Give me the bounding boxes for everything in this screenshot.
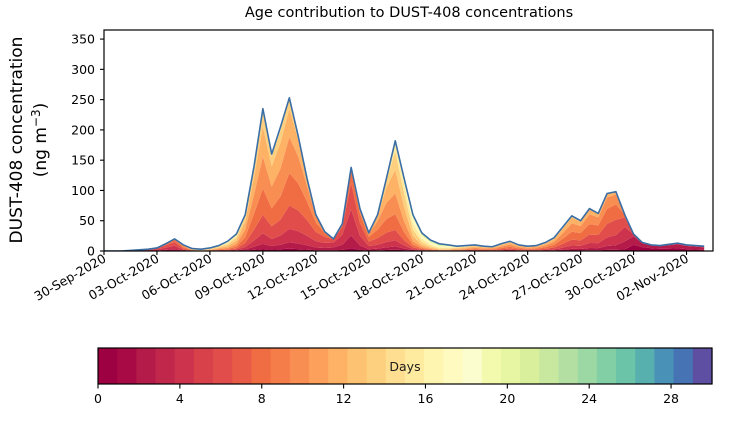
colorbar-segment — [156, 348, 176, 384]
y-tick-label: 200 — [71, 122, 95, 137]
y-axis-label-line1: DUST-408 concentration — [7, 37, 27, 244]
colorbar-tick-label: 8 — [258, 391, 266, 406]
colorbar-segment — [252, 348, 272, 384]
colorbar-tick-label: 16 — [418, 391, 434, 406]
colorbar-segment — [232, 348, 252, 384]
colorbar-tick-label: 4 — [176, 391, 184, 406]
colorbar-segment — [117, 348, 137, 384]
colorbar-segment — [347, 348, 367, 384]
y-axis-label-unit: (ng m — [31, 127, 51, 177]
y-tick-label: 50 — [79, 213, 95, 228]
y-tick-label: 300 — [71, 62, 95, 77]
colorbar-segment — [463, 348, 483, 384]
colorbar-tick-label: 28 — [663, 391, 679, 406]
colorbar-segment — [175, 348, 195, 384]
colorbar-segment — [597, 348, 617, 384]
colorbar-segment — [674, 348, 694, 384]
y-axis-label-exponent: −3 — [29, 109, 43, 127]
colorbar-segment — [559, 348, 579, 384]
y-tick-label: 350 — [71, 32, 95, 47]
colorbar-segment — [693, 348, 713, 384]
colorbar-tick-label: 12 — [336, 391, 352, 406]
colorbar-segment — [578, 348, 598, 384]
colorbar-segment — [443, 348, 463, 384]
colorbar-segment — [213, 348, 233, 384]
colorbar-segment — [482, 348, 502, 384]
colorbar-segment — [271, 348, 291, 384]
colorbar-segment — [309, 348, 329, 384]
y-tick-label: 100 — [71, 183, 95, 198]
colorbar-segment — [424, 348, 444, 384]
colorbar-segment — [616, 348, 636, 384]
y-axis-label-close: ) — [31, 103, 51, 110]
plot-area: 050100150200250300350 30-Sep-202003-Oct-… — [31, 30, 713, 304]
colorbar-segment — [654, 348, 674, 384]
y-tick-label: 150 — [71, 153, 95, 168]
y-tick-label: 250 — [71, 92, 95, 107]
colorbar-segment — [501, 348, 521, 384]
colorbar-segment — [520, 348, 540, 384]
colorbar-label: Days — [389, 359, 420, 374]
colorbar-segment — [367, 348, 387, 384]
colorbar-tick-label: 20 — [499, 391, 515, 406]
colorbar-segment — [539, 348, 559, 384]
colorbar-segment — [98, 348, 118, 384]
colorbar-segment — [290, 348, 310, 384]
colorbar-tick-label: 0 — [94, 391, 102, 406]
colorbar-tick-label: 24 — [581, 391, 597, 406]
colorbar-segment — [328, 348, 348, 384]
colorbar-segment — [136, 348, 156, 384]
colorbar-segment — [194, 348, 214, 384]
chart-title: Age contribution to DUST-408 concentrati… — [245, 5, 573, 21]
dust-age-contribution-figure: Age contribution to DUST-408 concentrati… — [0, 0, 730, 425]
colorbar-segment — [635, 348, 655, 384]
